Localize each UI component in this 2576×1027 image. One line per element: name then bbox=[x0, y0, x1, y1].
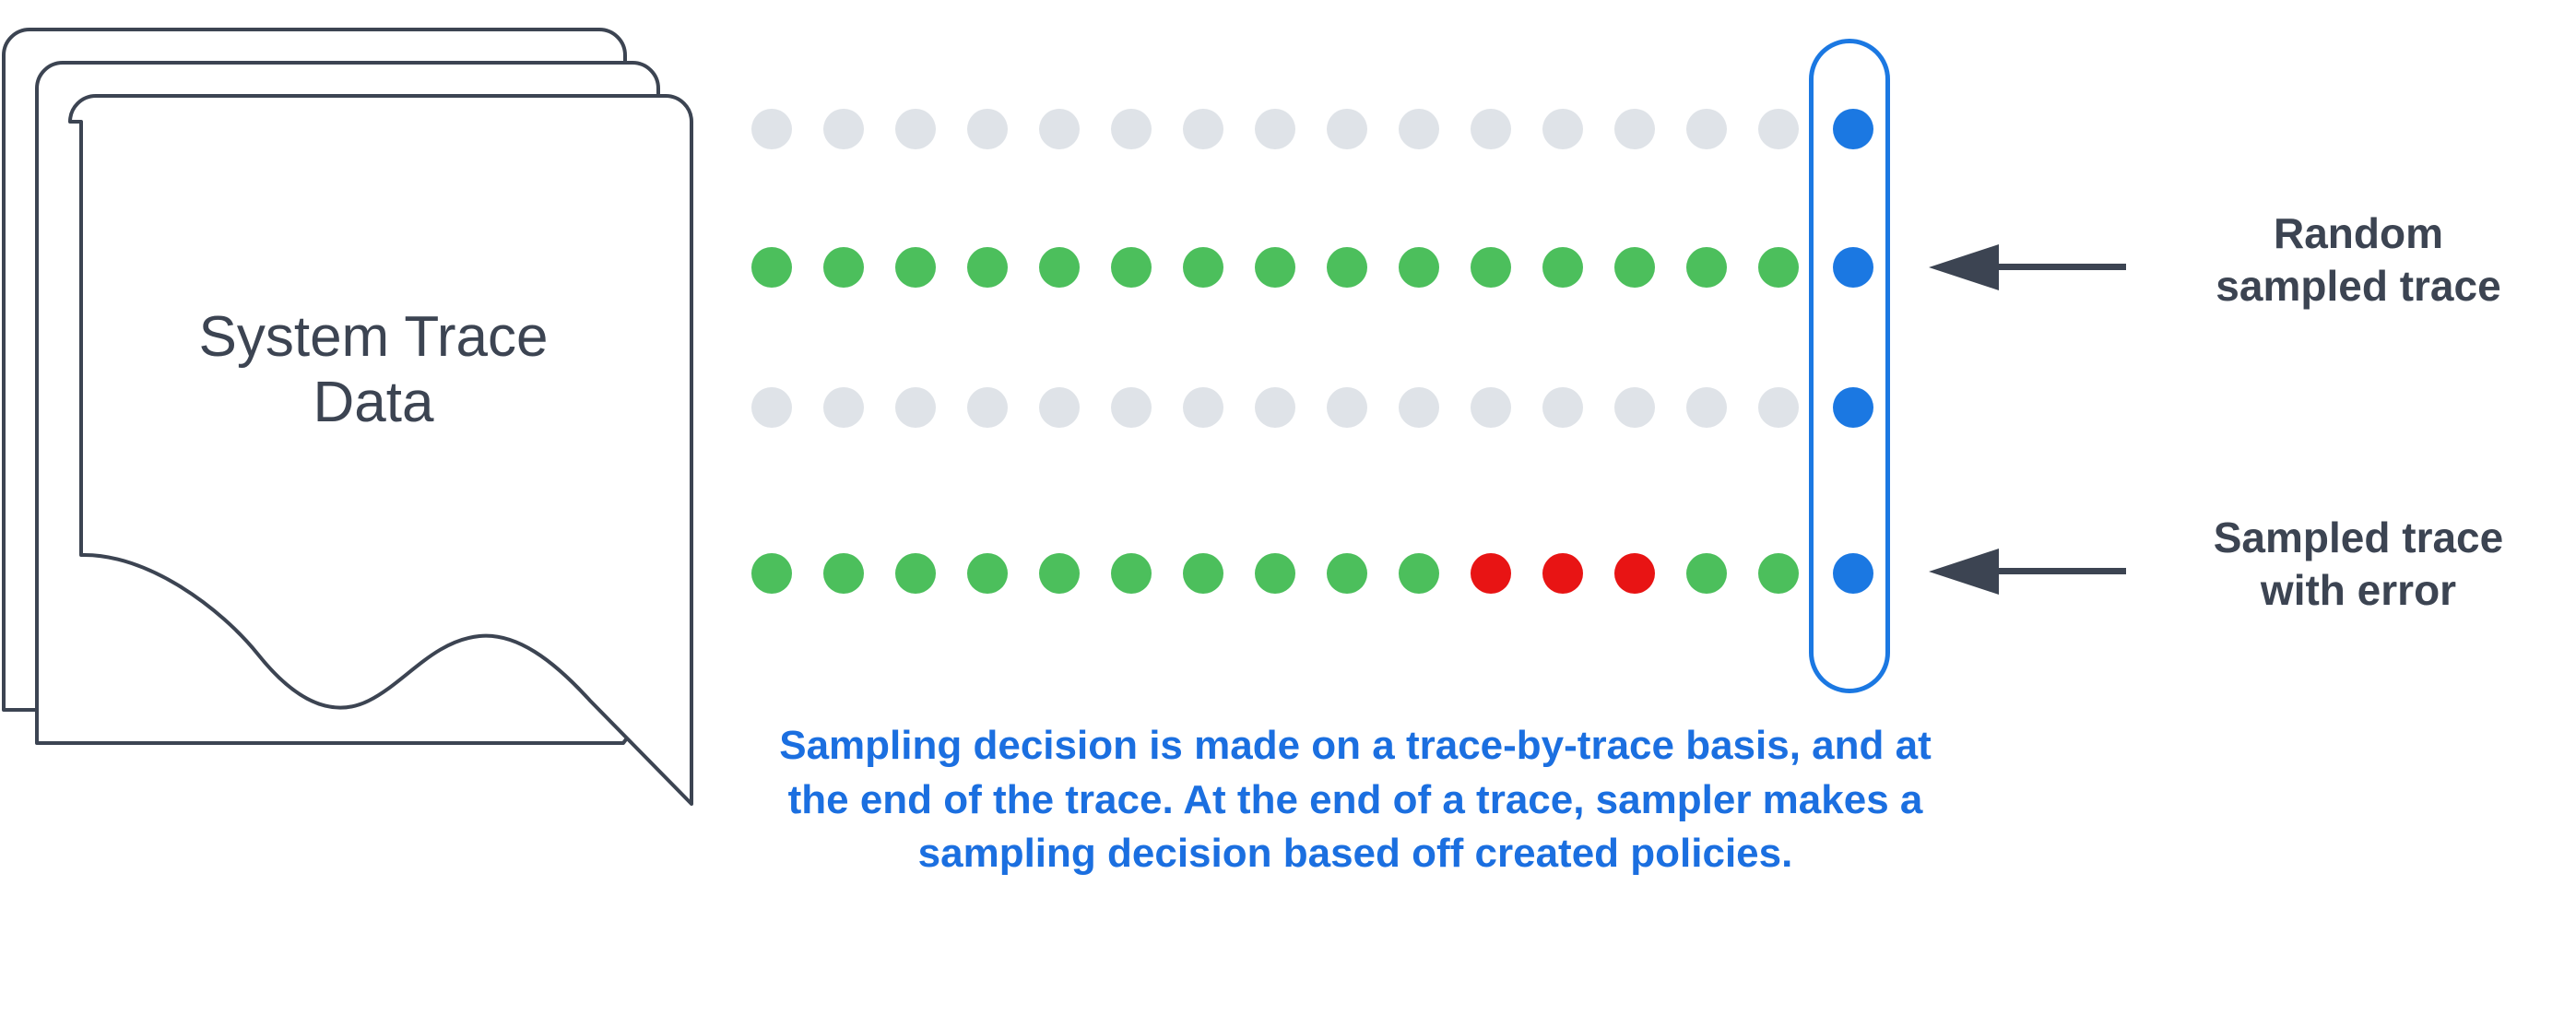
span-dot bbox=[1183, 553, 1223, 594]
decision-dot bbox=[1833, 553, 1873, 594]
trace-row-unsampled-1 bbox=[751, 109, 1799, 149]
diagram-canvas: System Trace Data bbox=[0, 0, 2576, 1027]
span-dot bbox=[1686, 387, 1727, 428]
span-dot bbox=[1039, 109, 1080, 149]
span-dot bbox=[1183, 247, 1223, 288]
span-dot bbox=[1327, 387, 1367, 428]
span-dot bbox=[751, 247, 792, 288]
span-dot bbox=[1111, 247, 1152, 288]
decision-dot bbox=[1833, 109, 1873, 149]
span-dot bbox=[1542, 387, 1583, 428]
left-arrow-icon bbox=[1927, 244, 2130, 290]
span-dot bbox=[1111, 553, 1152, 594]
span-dot bbox=[1039, 387, 1080, 428]
span-dot bbox=[1758, 109, 1799, 149]
span-dot bbox=[1183, 109, 1223, 149]
span-dot bbox=[1471, 109, 1511, 149]
span-dot bbox=[1614, 387, 1655, 428]
span-dot bbox=[895, 387, 936, 428]
span-dot bbox=[967, 553, 1008, 594]
span-dot-error bbox=[1542, 553, 1583, 594]
span-dot bbox=[1399, 109, 1439, 149]
span-dot bbox=[1255, 387, 1295, 428]
span-dot bbox=[1327, 109, 1367, 149]
span-dot bbox=[1039, 247, 1080, 288]
left-arrow-icon bbox=[1927, 549, 2130, 595]
span-dot bbox=[895, 109, 936, 149]
span-dot bbox=[823, 553, 864, 594]
span-dot bbox=[823, 247, 864, 288]
span-dot bbox=[1399, 247, 1439, 288]
span-dot bbox=[751, 387, 792, 428]
span-dot bbox=[1614, 109, 1655, 149]
span-dot bbox=[1399, 553, 1439, 594]
span-dot bbox=[1255, 553, 1295, 594]
callout-label: Sampled trace with error bbox=[2137, 512, 2576, 617]
span-dot bbox=[1327, 553, 1367, 594]
span-dot bbox=[1758, 247, 1799, 288]
span-dot bbox=[1111, 387, 1152, 428]
span-dot bbox=[895, 553, 936, 594]
span-dot bbox=[1686, 109, 1727, 149]
span-dot bbox=[1686, 553, 1727, 594]
span-dot bbox=[1183, 387, 1223, 428]
trace-row-sampled-with-error bbox=[751, 553, 1799, 594]
sampling-decision-caption: Sampling decision is made on a trace-by-… bbox=[756, 719, 1955, 881]
span-dot bbox=[967, 247, 1008, 288]
span-dot bbox=[751, 553, 792, 594]
span-dot bbox=[1686, 247, 1727, 288]
span-dot bbox=[751, 109, 792, 149]
decision-dot bbox=[1833, 387, 1873, 428]
span-dot bbox=[823, 109, 864, 149]
span-dot bbox=[1758, 553, 1799, 594]
span-dot bbox=[1039, 553, 1080, 594]
span-dot-error bbox=[1614, 553, 1655, 594]
span-dot bbox=[1471, 247, 1511, 288]
span-dot bbox=[1758, 387, 1799, 428]
span-dot bbox=[1327, 247, 1367, 288]
span-dot bbox=[1471, 387, 1511, 428]
span-dot bbox=[1614, 247, 1655, 288]
span-dot bbox=[823, 387, 864, 428]
span-dot bbox=[895, 247, 936, 288]
span-dot bbox=[967, 387, 1008, 428]
callout-label: Random sampled trace bbox=[2137, 207, 2576, 313]
trace-row-unsampled-2 bbox=[751, 387, 1799, 428]
span-dot bbox=[1111, 109, 1152, 149]
span-dot bbox=[1399, 387, 1439, 428]
span-dot bbox=[1542, 109, 1583, 149]
span-dot bbox=[1542, 247, 1583, 288]
span-dot bbox=[967, 109, 1008, 149]
span-dot bbox=[1255, 109, 1295, 149]
decision-dot bbox=[1833, 247, 1873, 288]
span-dot bbox=[1255, 247, 1295, 288]
span-dot-error bbox=[1471, 553, 1511, 594]
trace-row-random-sampled bbox=[751, 247, 1799, 288]
